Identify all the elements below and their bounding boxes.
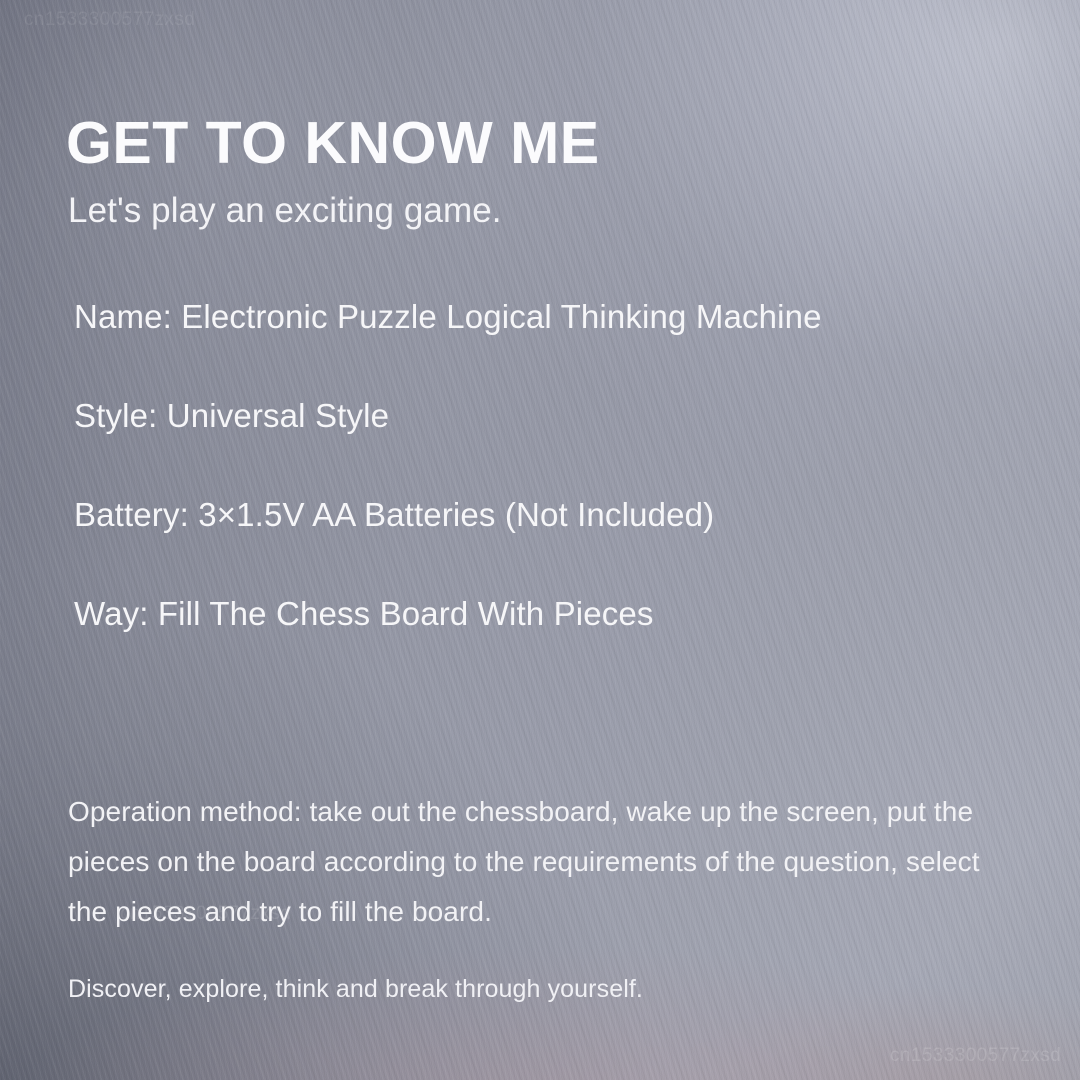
spec-row-way: Way: Fill The Chess Board With Pieces [74,597,1014,630]
slide-content: GET TO KNOW ME Let's play an exciting ga… [0,0,1080,1080]
spec-row-style: Style: Universal Style [74,399,1014,432]
specification-list: Name: Electronic Puzzle Logical Thinking… [74,300,1014,630]
operation-method-paragraph: Operation method: take out the chessboar… [68,787,1020,937]
page-subtitle: Let's play an exciting game. [68,190,502,231]
spec-row-battery: Battery: 3×1.5V AA Batteries (Not Includ… [74,498,1014,531]
product-info-slide: cn1533300577zxsd cn1533300577zxsd cn1533… [0,0,1080,1080]
spec-row-name: Name: Electronic Puzzle Logical Thinking… [74,300,1014,333]
page-title: GET TO KNOW ME [66,114,600,173]
closing-tagline: Discover, explore, think and break throu… [68,974,1020,1005]
